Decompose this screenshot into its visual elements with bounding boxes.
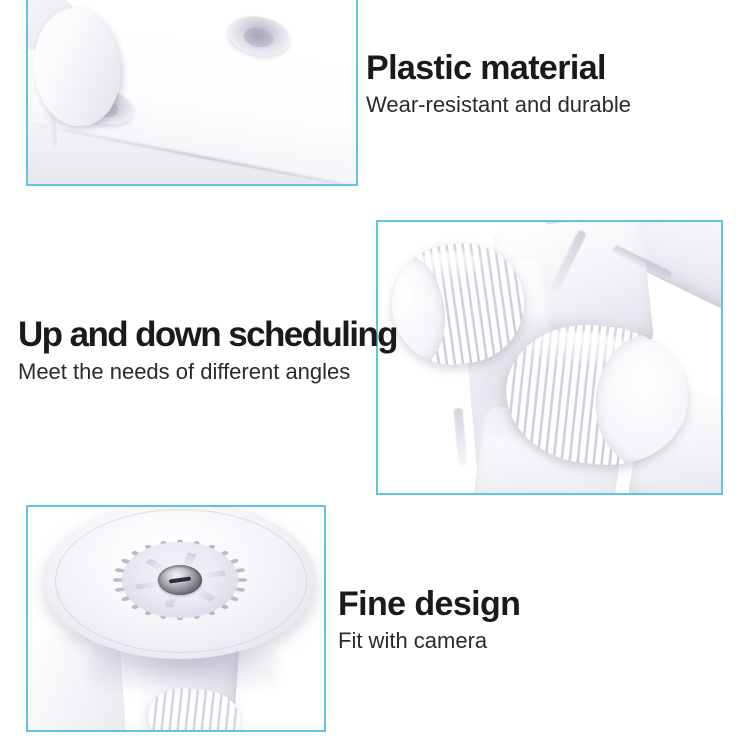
photo-plastic-material xyxy=(28,0,356,184)
photo-panel-up-and-down-scheduling xyxy=(376,220,723,495)
camera-mount-plate xyxy=(44,507,316,659)
product-feature-infographic: Plastic material Wear-resistant and dura… xyxy=(0,0,750,750)
photo-panel-fine-design xyxy=(26,505,326,732)
feature-heading: Up and down scheduling xyxy=(18,316,397,353)
feature-subheading: Fit with camera xyxy=(338,628,520,654)
feature-text-fine-design: Fine design Fit with camera xyxy=(338,586,520,654)
feature-subheading: Meet the needs of different angles xyxy=(18,359,397,385)
feature-text-plastic-material: Plastic material Wear-resistant and dura… xyxy=(366,50,631,118)
feature-text-up-and-down-scheduling: Up and down scheduling Meet the needs of… xyxy=(18,316,397,385)
feature-heading: Plastic material xyxy=(366,50,631,86)
screw-slot xyxy=(169,576,191,583)
adjustment-knob-right xyxy=(499,317,694,473)
tripod-screw xyxy=(158,565,202,595)
photo-up-and-down-scheduling xyxy=(378,222,721,493)
feature-heading: Fine design xyxy=(338,586,520,622)
feature-subheading: Wear-resistant and durable xyxy=(366,92,631,118)
photo-panel-plastic-material xyxy=(26,0,358,186)
photo-fine-design xyxy=(28,507,324,730)
screw-hole-core xyxy=(242,26,275,50)
